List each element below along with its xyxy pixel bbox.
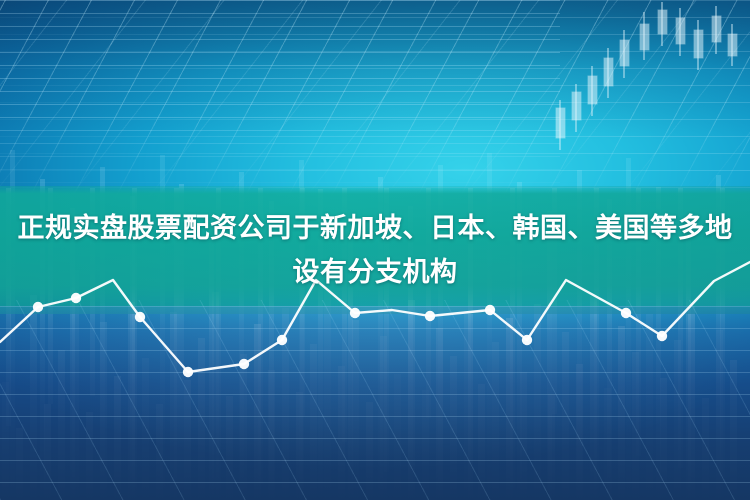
trend-line-marker	[33, 302, 43, 312]
trend-line-marker	[425, 311, 435, 321]
trend-line-marker	[135, 312, 145, 322]
trend-line-marker	[485, 305, 495, 315]
trend-line-marker	[657, 331, 667, 341]
trend-line-marker	[621, 308, 631, 318]
stock-banner: 正规实盘股票配资公司于新加坡、日本、韩国、美国等多地设有分支机构	[0, 0, 750, 500]
trend-line-marker	[350, 308, 360, 318]
trend-line-marker	[277, 335, 287, 345]
trend-line-marker	[183, 367, 193, 377]
trend-line-marker	[522, 335, 532, 345]
trend-line-marker	[239, 359, 249, 369]
page-title: 正规实盘股票配资公司于新加坡、日本、韩国、美国等多地设有分支机构	[0, 206, 750, 294]
trend-line-marker	[71, 293, 81, 303]
